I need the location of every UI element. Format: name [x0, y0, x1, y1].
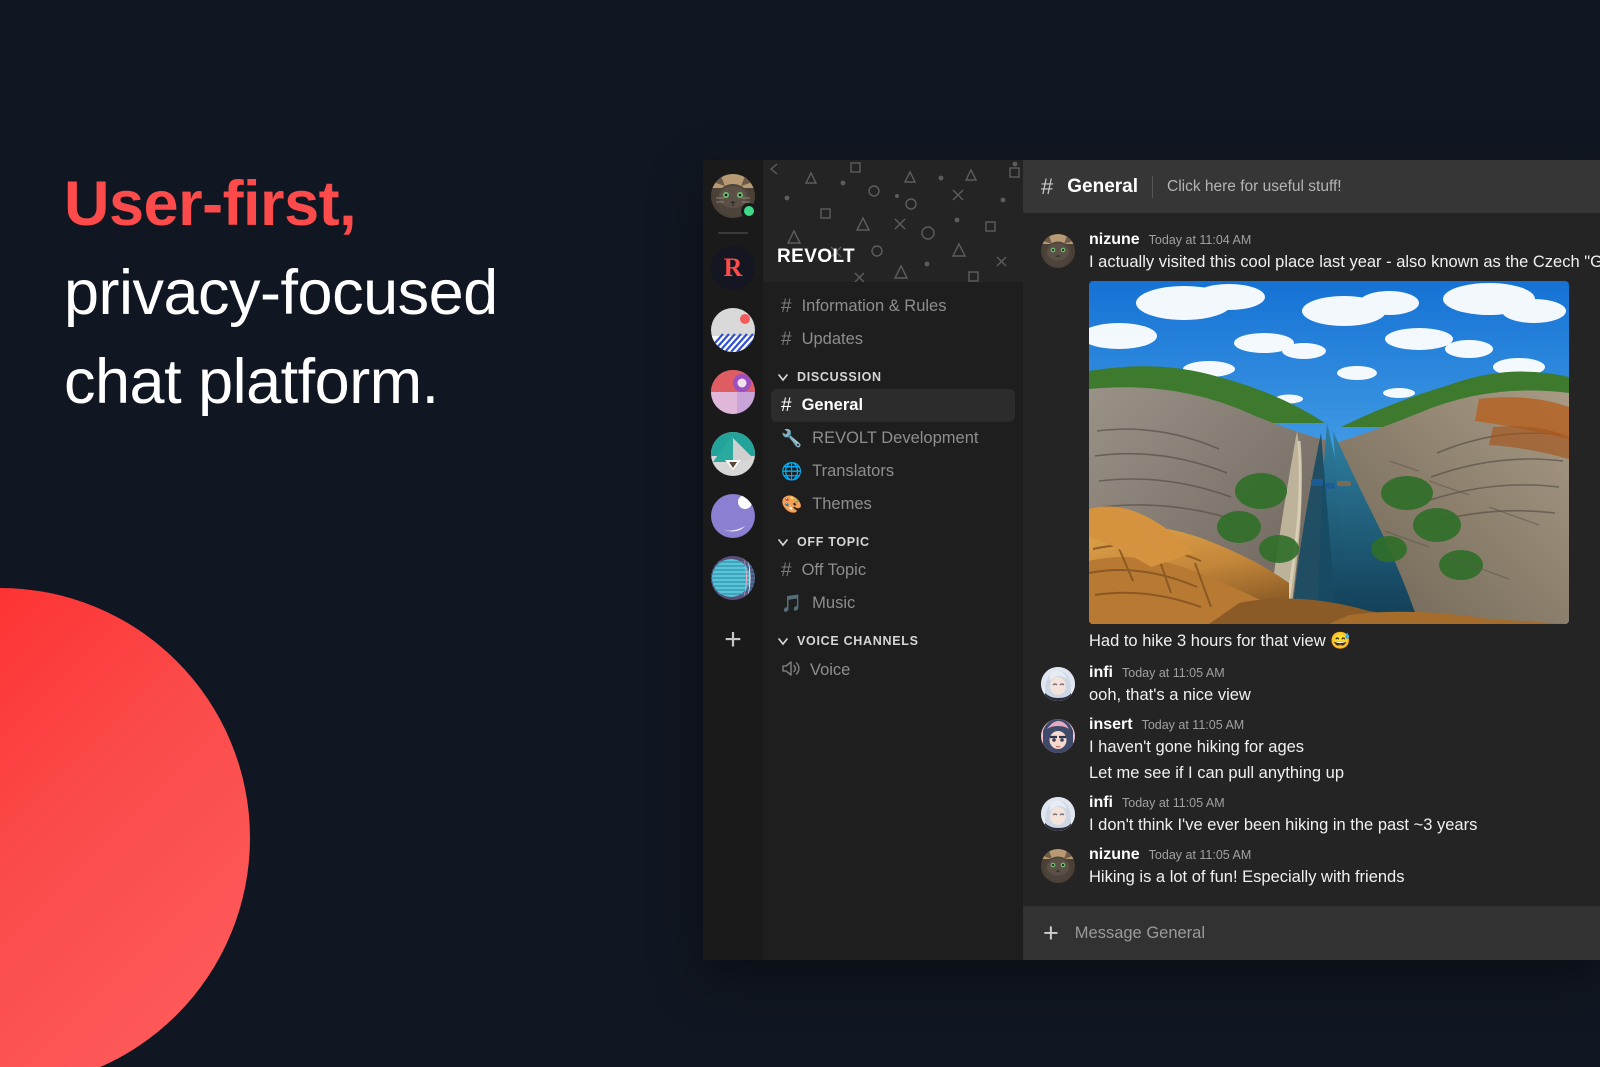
rail-divider — [718, 232, 748, 234]
avatar[interactable] — [1041, 234, 1075, 268]
message-author[interactable]: infi — [1089, 794, 1113, 812]
avatar[interactable] — [1041, 667, 1075, 701]
category-voice-channels[interactable]: VOICE CHANNELS — [771, 620, 1015, 653]
channel-themes[interactable]: 🎨 Themes — [771, 488, 1015, 521]
status-dot-online — [741, 203, 757, 219]
user-avatar[interactable] — [711, 174, 755, 218]
server-avatar-icon — [711, 494, 755, 538]
message-item: insert Today at 11:05 AM I haven't gone … — [1023, 710, 1600, 788]
message-author[interactable]: nizune — [1089, 231, 1140, 249]
channel-label: Themes — [812, 495, 872, 514]
message-meta: infi Today at 11:05 AM — [1089, 794, 1585, 812]
message-body: nizune Today at 11:04 AM I actually visi… — [1089, 231, 1585, 656]
hash-icon: # — [1041, 174, 1053, 200]
message-time: Today at 11:05 AM — [1142, 718, 1245, 732]
message-text-line-2: Let me see if I can pull anything up — [1089, 760, 1585, 786]
cat-avatar-icon — [1041, 849, 1075, 883]
message-author[interactable]: infi — [1089, 664, 1113, 682]
message-item: nizune Today at 11:04 AM I actually visi… — [1023, 225, 1600, 658]
message-item: infi Today at 11:05 AM I don't think I'v… — [1023, 788, 1600, 840]
category-discussion[interactable]: DISCUSSION — [771, 356, 1015, 389]
category-label: VOICE CHANNELS — [797, 634, 919, 648]
wrench-icon: 🔧 — [781, 430, 802, 447]
speaker-icon-glyph — [781, 660, 800, 677]
globe-icon: 🌐 — [781, 463, 802, 480]
headline-line-2: privacy-focused — [64, 249, 664, 338]
server-icon-revolt[interactable]: R — [711, 246, 755, 290]
chat-header: # General Click here for useful stuff! — [1023, 160, 1600, 213]
channel-label: Information & Rules — [802, 297, 947, 316]
category-off-topic[interactable]: OFF TOPIC — [771, 521, 1015, 554]
channel-translators[interactable]: 🌐 Translators — [771, 455, 1015, 488]
server-icon-5[interactable] — [711, 494, 755, 538]
chat-channel-name: General — [1067, 176, 1138, 198]
message-author[interactable]: nizune — [1089, 846, 1140, 864]
speaker-icon — [781, 660, 800, 681]
chevron-down-icon — [777, 371, 789, 383]
message-text: Hiking is a lot of fun! Especially with … — [1089, 864, 1585, 890]
server-avatar-icon — [711, 370, 755, 414]
channel-label: Updates — [802, 330, 863, 349]
app-window: R — [703, 160, 1600, 960]
server-icon-3[interactable] — [711, 370, 755, 414]
channel-label: Off Topic — [802, 561, 867, 580]
message-body: infi Today at 11:05 AM ooh, that's a nic… — [1089, 664, 1585, 708]
avatar[interactable] — [1041, 719, 1075, 753]
cat-avatar-icon — [1041, 234, 1075, 268]
server-icon-4[interactable] — [711, 432, 755, 476]
channel-label: Translators — [812, 462, 894, 481]
hash-icon: # — [781, 561, 792, 580]
page-headline: User-first, privacy-focused chat platfor… — [64, 160, 664, 427]
decorative-blob — [0, 588, 250, 1067]
category-label: OFF TOPIC — [797, 535, 870, 549]
message-meta: nizune Today at 11:05 AM — [1089, 846, 1585, 864]
server-avatar-icon — [711, 556, 755, 600]
message-body: infi Today at 11:05 AM I don't think I'v… — [1089, 794, 1585, 838]
message-input[interactable]: Message General — [1075, 924, 1205, 943]
header-divider — [1152, 176, 1153, 198]
category-label: DISCUSSION — [797, 370, 882, 384]
message-meta: insert Today at 11:05 AM — [1089, 716, 1585, 734]
channel-label: Voice — [810, 661, 850, 680]
message-time: Today at 11:05 AM — [1122, 666, 1225, 680]
message-author[interactable]: insert — [1089, 716, 1133, 734]
headline-line-1: User-first, — [64, 160, 664, 249]
landing-page: User-first, privacy-focused chat platfor… — [0, 0, 1600, 1067]
channel-general[interactable]: # General — [771, 389, 1015, 422]
channel-label: General — [802, 396, 863, 415]
message-text: I don't think I've ever been hiking in t… — [1089, 812, 1585, 838]
quarry-lake-photo — [1089, 281, 1569, 624]
channel-label: REVOLT Development — [812, 429, 978, 448]
server-rail: R — [703, 160, 763, 960]
add-attachment-button[interactable]: + — [1043, 920, 1059, 947]
server-initial: R — [724, 253, 743, 283]
add-server-button[interactable]: + — [711, 618, 755, 662]
message-image[interactable] — [1089, 281, 1569, 624]
channel-music[interactable]: 🎵 Music — [771, 587, 1015, 620]
message-caption: Had to hike 3 hours for that view 😅 — [1089, 628, 1585, 656]
hash-icon: # — [781, 330, 792, 349]
message-item: nizune Today at 11:05 AM Hiking is a lot… — [1023, 840, 1600, 892]
channel-off-topic[interactable]: # Off Topic — [771, 554, 1015, 587]
message-text: I actually visited this cool place last … — [1089, 249, 1585, 275]
message-time: Today at 11:05 AM — [1149, 848, 1252, 862]
chat-topic[interactable]: Click here for useful stuff! — [1167, 178, 1342, 196]
server-avatar-icon — [711, 308, 755, 352]
channel-updates[interactable]: # Updates — [771, 323, 1015, 356]
palette-icon: 🎨 — [781, 496, 802, 513]
anime-avatar-icon — [1041, 719, 1075, 753]
message-time: Today at 11:04 AM — [1149, 233, 1252, 247]
music-note-icon: 🎵 — [781, 595, 802, 612]
channel-label: Music — [812, 594, 855, 613]
avatar[interactable] — [1041, 797, 1075, 831]
channel-revolt-development[interactable]: 🔧 REVOLT Development — [771, 422, 1015, 455]
server-icon-6[interactable] — [711, 556, 755, 600]
avatar[interactable] — [1041, 849, 1075, 883]
server-icon-2[interactable] — [711, 308, 755, 352]
server-name: REVOLT — [763, 246, 855, 282]
hash-icon: # — [781, 396, 792, 415]
message-body: insert Today at 11:05 AM I haven't gone … — [1089, 716, 1585, 786]
message-list: nizune Today at 11:04 AM I actually visi… — [1023, 213, 1600, 906]
message-item: infi Today at 11:05 AM ooh, that's a nic… — [1023, 658, 1600, 710]
message-text: I haven't gone hiking for ages — [1089, 734, 1585, 760]
anime-avatar-icon — [1041, 667, 1075, 701]
headline-line-3: chat platform. — [64, 338, 664, 427]
server-banner: REVOLT — [763, 160, 1023, 282]
chevron-down-icon — [777, 536, 789, 548]
message-meta: infi Today at 11:05 AM — [1089, 664, 1585, 682]
message-composer[interactable]: + Message General — [1023, 906, 1600, 960]
message-meta: nizune Today at 11:04 AM — [1089, 231, 1585, 249]
hash-icon: # — [781, 297, 792, 316]
chat-panel: # General Click here for useful stuff! — [1023, 160, 1600, 960]
message-text: ooh, that's a nice view — [1089, 682, 1585, 708]
message-body: nizune Today at 11:05 AM Hiking is a lot… — [1089, 846, 1585, 890]
channel-voice[interactable]: Voice — [771, 653, 1015, 688]
server-avatar-icon — [711, 432, 755, 476]
anime-avatar-icon — [1041, 797, 1075, 831]
channel-information-rules[interactable]: # Information & Rules — [771, 290, 1015, 323]
channel-list: # Information & Rules # Updates DISCUSSI… — [763, 282, 1023, 960]
channel-sidebar: REVOLT # Information & Rules # Updates D… — [763, 160, 1023, 960]
chevron-down-icon — [777, 635, 789, 647]
message-time: Today at 11:05 AM — [1122, 796, 1225, 810]
